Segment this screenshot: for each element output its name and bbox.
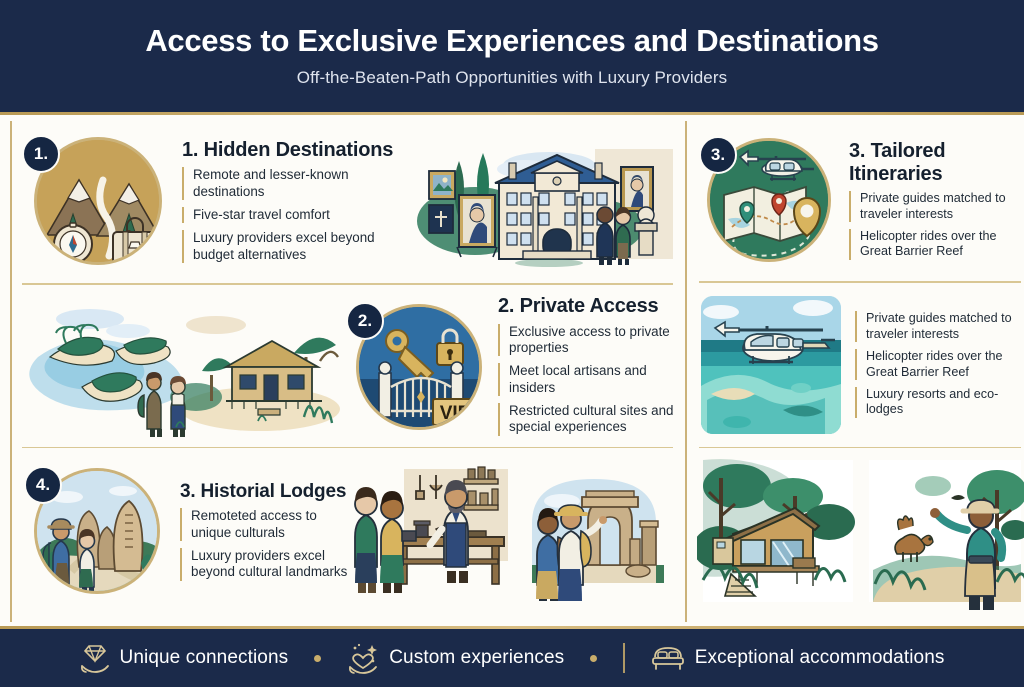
footer-label-exceptional-accommodations: Exceptional accommodations bbox=[695, 647, 945, 669]
footer-item-custom-experiences: Custom experiences bbox=[347, 642, 564, 674]
footer-item-unique-connections: Unique connections bbox=[80, 642, 289, 674]
hidden-destinations-text: 1. Hidden Destinations Remote and lesser… bbox=[170, 139, 395, 263]
section-divider-3 bbox=[699, 281, 1021, 283]
museum-illustration bbox=[399, 131, 679, 271]
badge-2: 2. bbox=[346, 302, 384, 340]
tailored-itineraries-art: 3. bbox=[697, 130, 837, 270]
section-title-3: 3. Historial Lodges bbox=[180, 481, 350, 502]
list-item: Restricted cultural sites and special ex… bbox=[498, 403, 678, 436]
list-item: Private guides matched to traveler inter… bbox=[849, 191, 1017, 222]
footer-label-custom-experiences: Custom experiences bbox=[389, 647, 564, 669]
left-column: 1. bbox=[10, 121, 679, 622]
page-subtitle: Off-the-Beaten-Path Opportunities with L… bbox=[297, 68, 727, 88]
eco-lodge-safari-illustration bbox=[697, 452, 1024, 610]
footer-label-unique-connections: Unique connections bbox=[120, 647, 289, 669]
hand-holding-diamond-icon bbox=[80, 642, 110, 674]
infographic-poster: Access to Exclusive Experiences and Dest… bbox=[0, 0, 1024, 687]
right-column: 3. bbox=[685, 121, 1024, 622]
hidden-destinations-art: 1. bbox=[20, 131, 170, 271]
section-title-2: 2. Private Access bbox=[498, 295, 678, 317]
page-title: Access to Exclusive Experiences and Dest… bbox=[145, 24, 878, 58]
badge-1: 1. bbox=[22, 135, 60, 173]
section-hidden-destinations: 1. bbox=[20, 121, 679, 281]
footer-dot-separator-1 bbox=[314, 655, 321, 662]
body-content: 1. bbox=[0, 115, 1024, 626]
footer-line-separator bbox=[623, 643, 625, 673]
historial-lodges-text: 3. Historial Lodges Remoteted access to … bbox=[168, 481, 350, 581]
bullet-list-3: Remoteted access to unique culturals Lux… bbox=[180, 508, 350, 580]
artisan-workshop-illustration bbox=[350, 461, 518, 601]
helicopter-reef-illustration bbox=[697, 290, 845, 440]
footer-bar: Unique connections Custom experiences bbox=[0, 629, 1024, 687]
section-historial-lodges: 4. bbox=[20, 450, 679, 612]
list-item: Luxury resorts and eco-lodges bbox=[855, 387, 1024, 418]
section-divider-2 bbox=[22, 447, 673, 449]
bullet-list-4: Private guides matched to traveler inter… bbox=[849, 191, 1017, 259]
islands-lodge-illustration bbox=[20, 291, 342, 441]
vip-label: VIP bbox=[440, 403, 471, 424]
section-title-1: 1. Hidden Destinations bbox=[182, 139, 395, 161]
bullet-list-5: Private guides matched to traveler inter… bbox=[855, 311, 1024, 417]
list-item: Helicopter rides over the Great Barrier … bbox=[855, 349, 1024, 380]
section-reef-experience: Private guides matched to traveler inter… bbox=[697, 285, 1024, 445]
list-item: Luxury providers excel beyond cultural l… bbox=[180, 548, 350, 581]
tailored-itineraries-text: 3. Tailored Itineraries Private guides m… bbox=[837, 140, 1017, 259]
badge-4: 4. bbox=[24, 466, 62, 504]
section-eco-lodge bbox=[697, 450, 1024, 612]
list-item: Remoteted access to unique culturals bbox=[180, 508, 350, 541]
list-item: Helicopter rides over the Great Barrier … bbox=[849, 229, 1017, 260]
private-access-text: 2. Private Access Exclusive access to pr… bbox=[486, 295, 678, 435]
hand-holding-heart-sparkle-icon bbox=[347, 642, 379, 674]
badge-3: 3. bbox=[699, 136, 737, 174]
section-tailored-itineraries: 3. bbox=[697, 121, 1024, 279]
bullet-list-1: Remote and lesser-known destinations Fiv… bbox=[182, 167, 395, 263]
list-item: Five-star travel comfort bbox=[182, 207, 395, 223]
ruins-guide-illustration bbox=[522, 461, 674, 601]
list-item: Remote and lesser-known destinations bbox=[182, 167, 395, 200]
bed-icon bbox=[651, 643, 685, 673]
private-access-art: 2. bbox=[346, 296, 486, 436]
section-private-access: 2. bbox=[20, 287, 679, 445]
footer-item-exceptional-accommodations: Exceptional accommodations bbox=[651, 643, 945, 673]
list-item: Private guides matched to traveler inter… bbox=[855, 311, 1024, 342]
header-banner: Access to Exclusive Experiences and Dest… bbox=[0, 0, 1024, 112]
bullet-list-2: Exclusive access to private properties M… bbox=[498, 324, 678, 436]
footer-dot-separator-2 bbox=[590, 655, 597, 662]
section-divider-4 bbox=[699, 447, 1021, 449]
list-item: Meet local artisans and insiders bbox=[498, 363, 678, 396]
list-item: Exclusive access to private properties bbox=[498, 324, 678, 357]
historial-lodges-art: 4. bbox=[20, 460, 168, 602]
section-title-4: 3. Tailored Itineraries bbox=[849, 140, 1017, 185]
list-item: Luxury providers excel beyond budget alt… bbox=[182, 230, 395, 263]
reef-bullets: Private guides matched to traveler inter… bbox=[845, 311, 1024, 417]
section-divider-1 bbox=[22, 283, 673, 285]
